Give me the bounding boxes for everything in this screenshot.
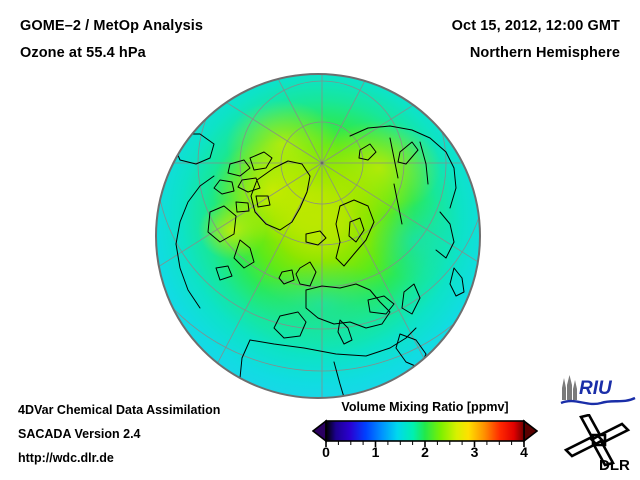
page-title: GOME–2 / MetOp Analysis	[20, 18, 203, 34]
colorbar: Volume Mixing Ratio [ppmv]	[312, 400, 538, 470]
footer-version-label: SACADA Version 2.4	[18, 427, 141, 441]
globe-map	[154, 72, 482, 400]
colorbar-extend-min-arrow	[313, 421, 326, 441]
orthographic-projection-svg	[154, 72, 482, 400]
riu-towers-icon	[562, 375, 577, 400]
riu-wordmark: RIU	[579, 378, 613, 399]
riu-logo: RIU	[557, 374, 637, 410]
page-subtitle: Ozone at 55.4 hPa	[20, 45, 146, 61]
region-label: Northern Hemisphere	[470, 45, 620, 61]
dlr-wordmark: DLR	[599, 457, 630, 472]
colorbar-gradient	[326, 421, 524, 441]
north-pole-marker	[321, 162, 324, 165]
timestamp-label: Oct 15, 2012, 12:00 GMT	[452, 18, 620, 34]
footer-url-link[interactable]: http://wdc.dlr.de	[18, 451, 114, 465]
colorbar-tick-1: 1	[364, 444, 388, 460]
footer-method-label: 4DVar Chemical Data Assimilation	[18, 403, 220, 417]
colorbar-tick-4: 4	[512, 444, 536, 460]
colorbar-tick-0: 0	[314, 444, 338, 460]
colorbar-tick-2: 2	[413, 444, 437, 460]
dlr-logo: DLR	[562, 414, 636, 472]
colorbar-tick-3: 3	[463, 444, 487, 460]
colorbar-extend-max-arrow	[524, 421, 537, 441]
colorbar-title: Volume Mixing Ratio [ppmv]	[312, 400, 538, 414]
figure-canvas: GOME–2 / MetOp Analysis Ozone at 55.4 hP…	[0, 0, 640, 480]
